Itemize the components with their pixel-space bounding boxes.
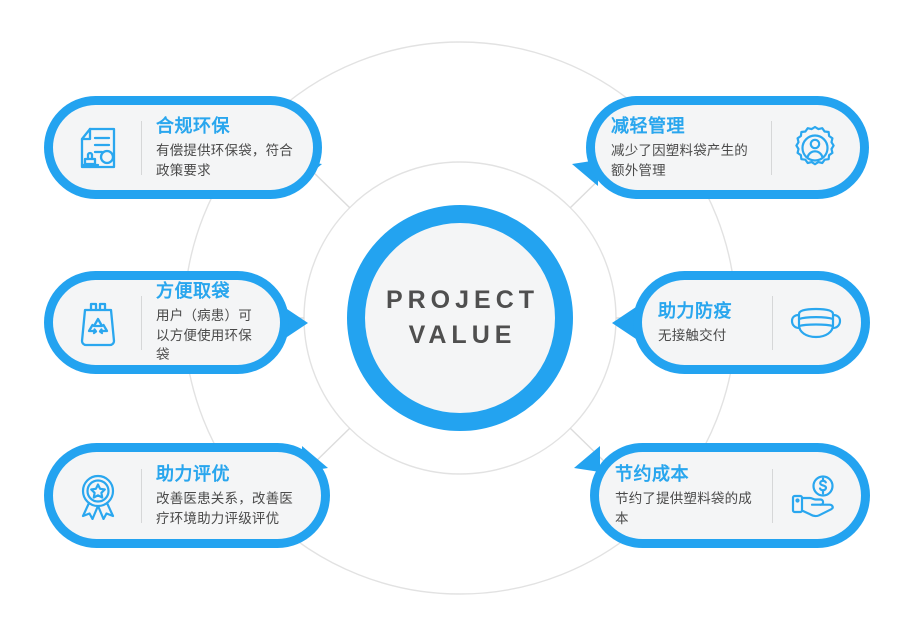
card-divider <box>141 296 142 350</box>
value-card-zhu-li-fang-yi[interactable]: 助力防疫 无接触交付 <box>633 271 870 374</box>
card-title: 节约成本 <box>615 463 758 486</box>
hand-money-icon <box>785 467 847 525</box>
card-description: 无接触交付 <box>658 326 758 346</box>
hub-title-line2: VALUE <box>381 318 539 354</box>
card-title: 助力防疫 <box>658 300 758 323</box>
value-card-he-gui-huan-bao[interactable]: 合规环保 有偿提供环保袋，符合政策要求 <box>44 96 322 199</box>
face-mask-icon <box>785 294 847 352</box>
card-title: 合规环保 <box>156 115 297 138</box>
card-description: 用户（病患）可以方便使用环保袋 <box>156 306 264 365</box>
gear-user-icon <box>784 119 846 177</box>
recycle-bag-icon <box>67 294 129 352</box>
card-divider <box>141 469 142 523</box>
card-title: 助力评优 <box>156 463 305 486</box>
hub-title: PROJECT VALUE <box>381 283 539 354</box>
infographic-canvas: PROJECT VALUE <box>0 0 913 634</box>
award-medal-icon <box>67 467 129 525</box>
value-card-jian-qing-guan-li[interactable]: 减轻管理 减少了因塑料袋产生的额外管理 <box>586 96 869 199</box>
value-card-zhu-li-ping-you[interactable]: 助力评优 改善医患关系，改善医疗环境助力评级评优 <box>44 443 330 548</box>
card-description: 改善医患关系，改善医疗环境助力评级评优 <box>156 489 305 528</box>
card-divider <box>772 469 773 523</box>
card-divider <box>141 121 142 175</box>
value-card-jie-yue-cheng-ben[interactable]: 节约成本 节约了提供塑料袋的成本 <box>590 443 870 548</box>
value-card-fang-bian-qu-dai[interactable]: 方便取袋 用户（病患）可以方便使用环保袋 <box>44 271 289 374</box>
card-description: 减少了因塑料袋产生的额外管理 <box>611 141 757 180</box>
card-description: 节约了提供塑料袋的成本 <box>615 489 758 528</box>
card-description: 有偿提供环保袋，符合政策要求 <box>156 141 297 180</box>
card-divider <box>772 296 773 350</box>
card-tail-jie-yue-cheng-ben <box>574 446 600 472</box>
center-hub: PROJECT VALUE <box>347 205 573 431</box>
card-title: 方便取袋 <box>156 280 264 303</box>
card-title: 减轻管理 <box>611 115 757 138</box>
hub-title-line1: PROJECT <box>386 286 539 314</box>
card-divider <box>771 121 772 175</box>
stamped-document-icon <box>67 119 129 177</box>
